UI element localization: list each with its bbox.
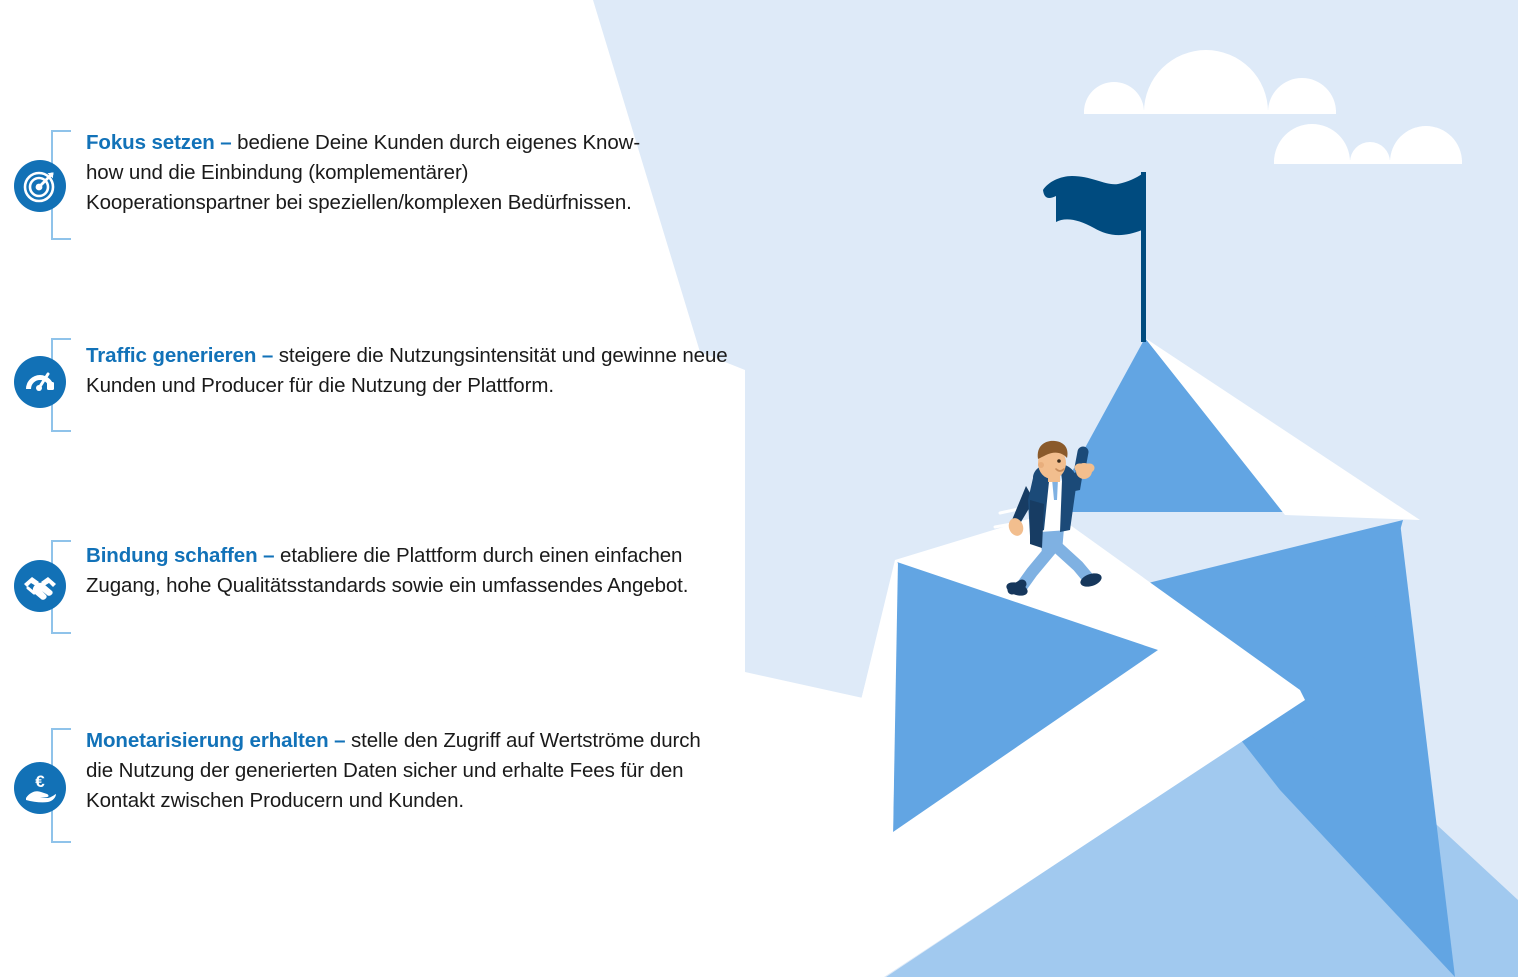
point-1-dash: – <box>215 131 238 154</box>
point-4-lead: Monetarisierung erhalten <box>86 729 329 752</box>
target-icon <box>14 160 66 212</box>
bullet-point-list: Fokus setzen – bediene Deine Kunden durc… <box>0 0 760 977</box>
point-1-text: Fokus setzen – bediene Deine Kunden durc… <box>86 128 646 218</box>
point-3-dash: – <box>258 544 281 567</box>
svg-text:€: € <box>35 772 45 791</box>
infographic-canvas: Fokus setzen – bediene Deine Kunden durc… <box>0 0 1518 977</box>
point-2-dash: – <box>256 344 279 367</box>
speedometer-icon <box>14 356 66 408</box>
euro-hand-icon: € <box>14 762 66 814</box>
handshake-icon <box>14 560 66 612</box>
point-3-lead: Bindung schaffen <box>86 544 258 567</box>
point-4-text: Monetarisierung erhalten – stelle den Zu… <box>86 726 706 816</box>
point-1-lead: Fokus setzen <box>86 131 215 154</box>
point-2-lead: Traffic generieren <box>86 344 256 367</box>
point-2-text: Traffic generieren – steigere die Nutzun… <box>86 341 746 401</box>
point-4-dash: – <box>329 729 352 752</box>
point-3-text: Bindung schaffen – etabliere die Plattfo… <box>86 541 746 601</box>
